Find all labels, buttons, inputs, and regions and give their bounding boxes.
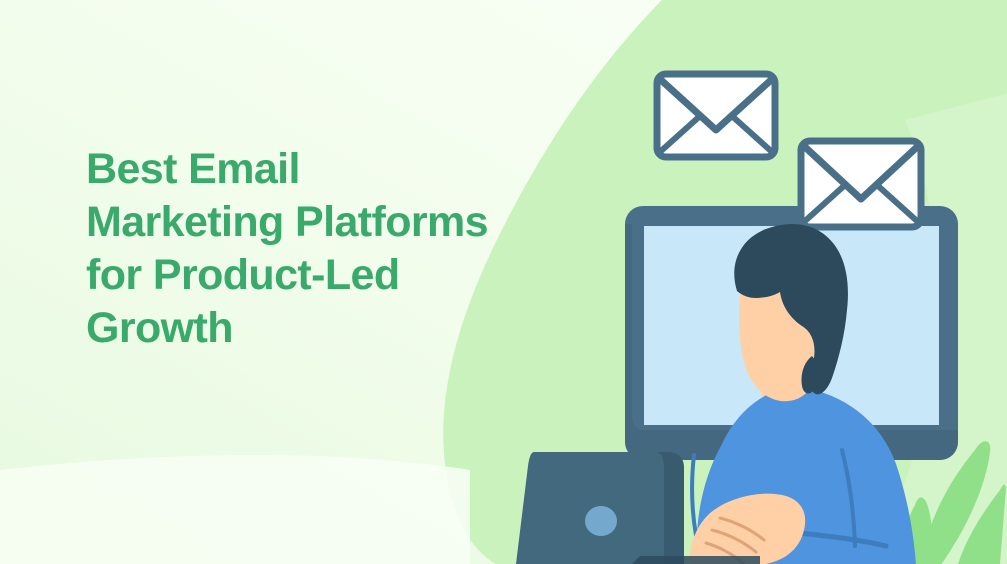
envelope-lower-right [801,141,921,227]
title-line-4: Growth [86,302,516,355]
title-line-1: Best Email [86,143,516,196]
laptop-base-edge [632,556,760,564]
laptop-logo-icon [585,506,617,536]
poster-canvas: Best Email Marketing Platforms for Produ… [0,0,1007,564]
title-line-3: for Product-Led [86,249,516,302]
page-title: Best Email Marketing Platforms for Produ… [86,143,516,355]
envelope-top-left-body [657,74,775,157]
laptop [516,452,684,564]
title-line-2: Marketing Platforms [86,196,516,249]
envelope-top-left [657,74,775,157]
envelope-lower-right-body [801,141,921,227]
